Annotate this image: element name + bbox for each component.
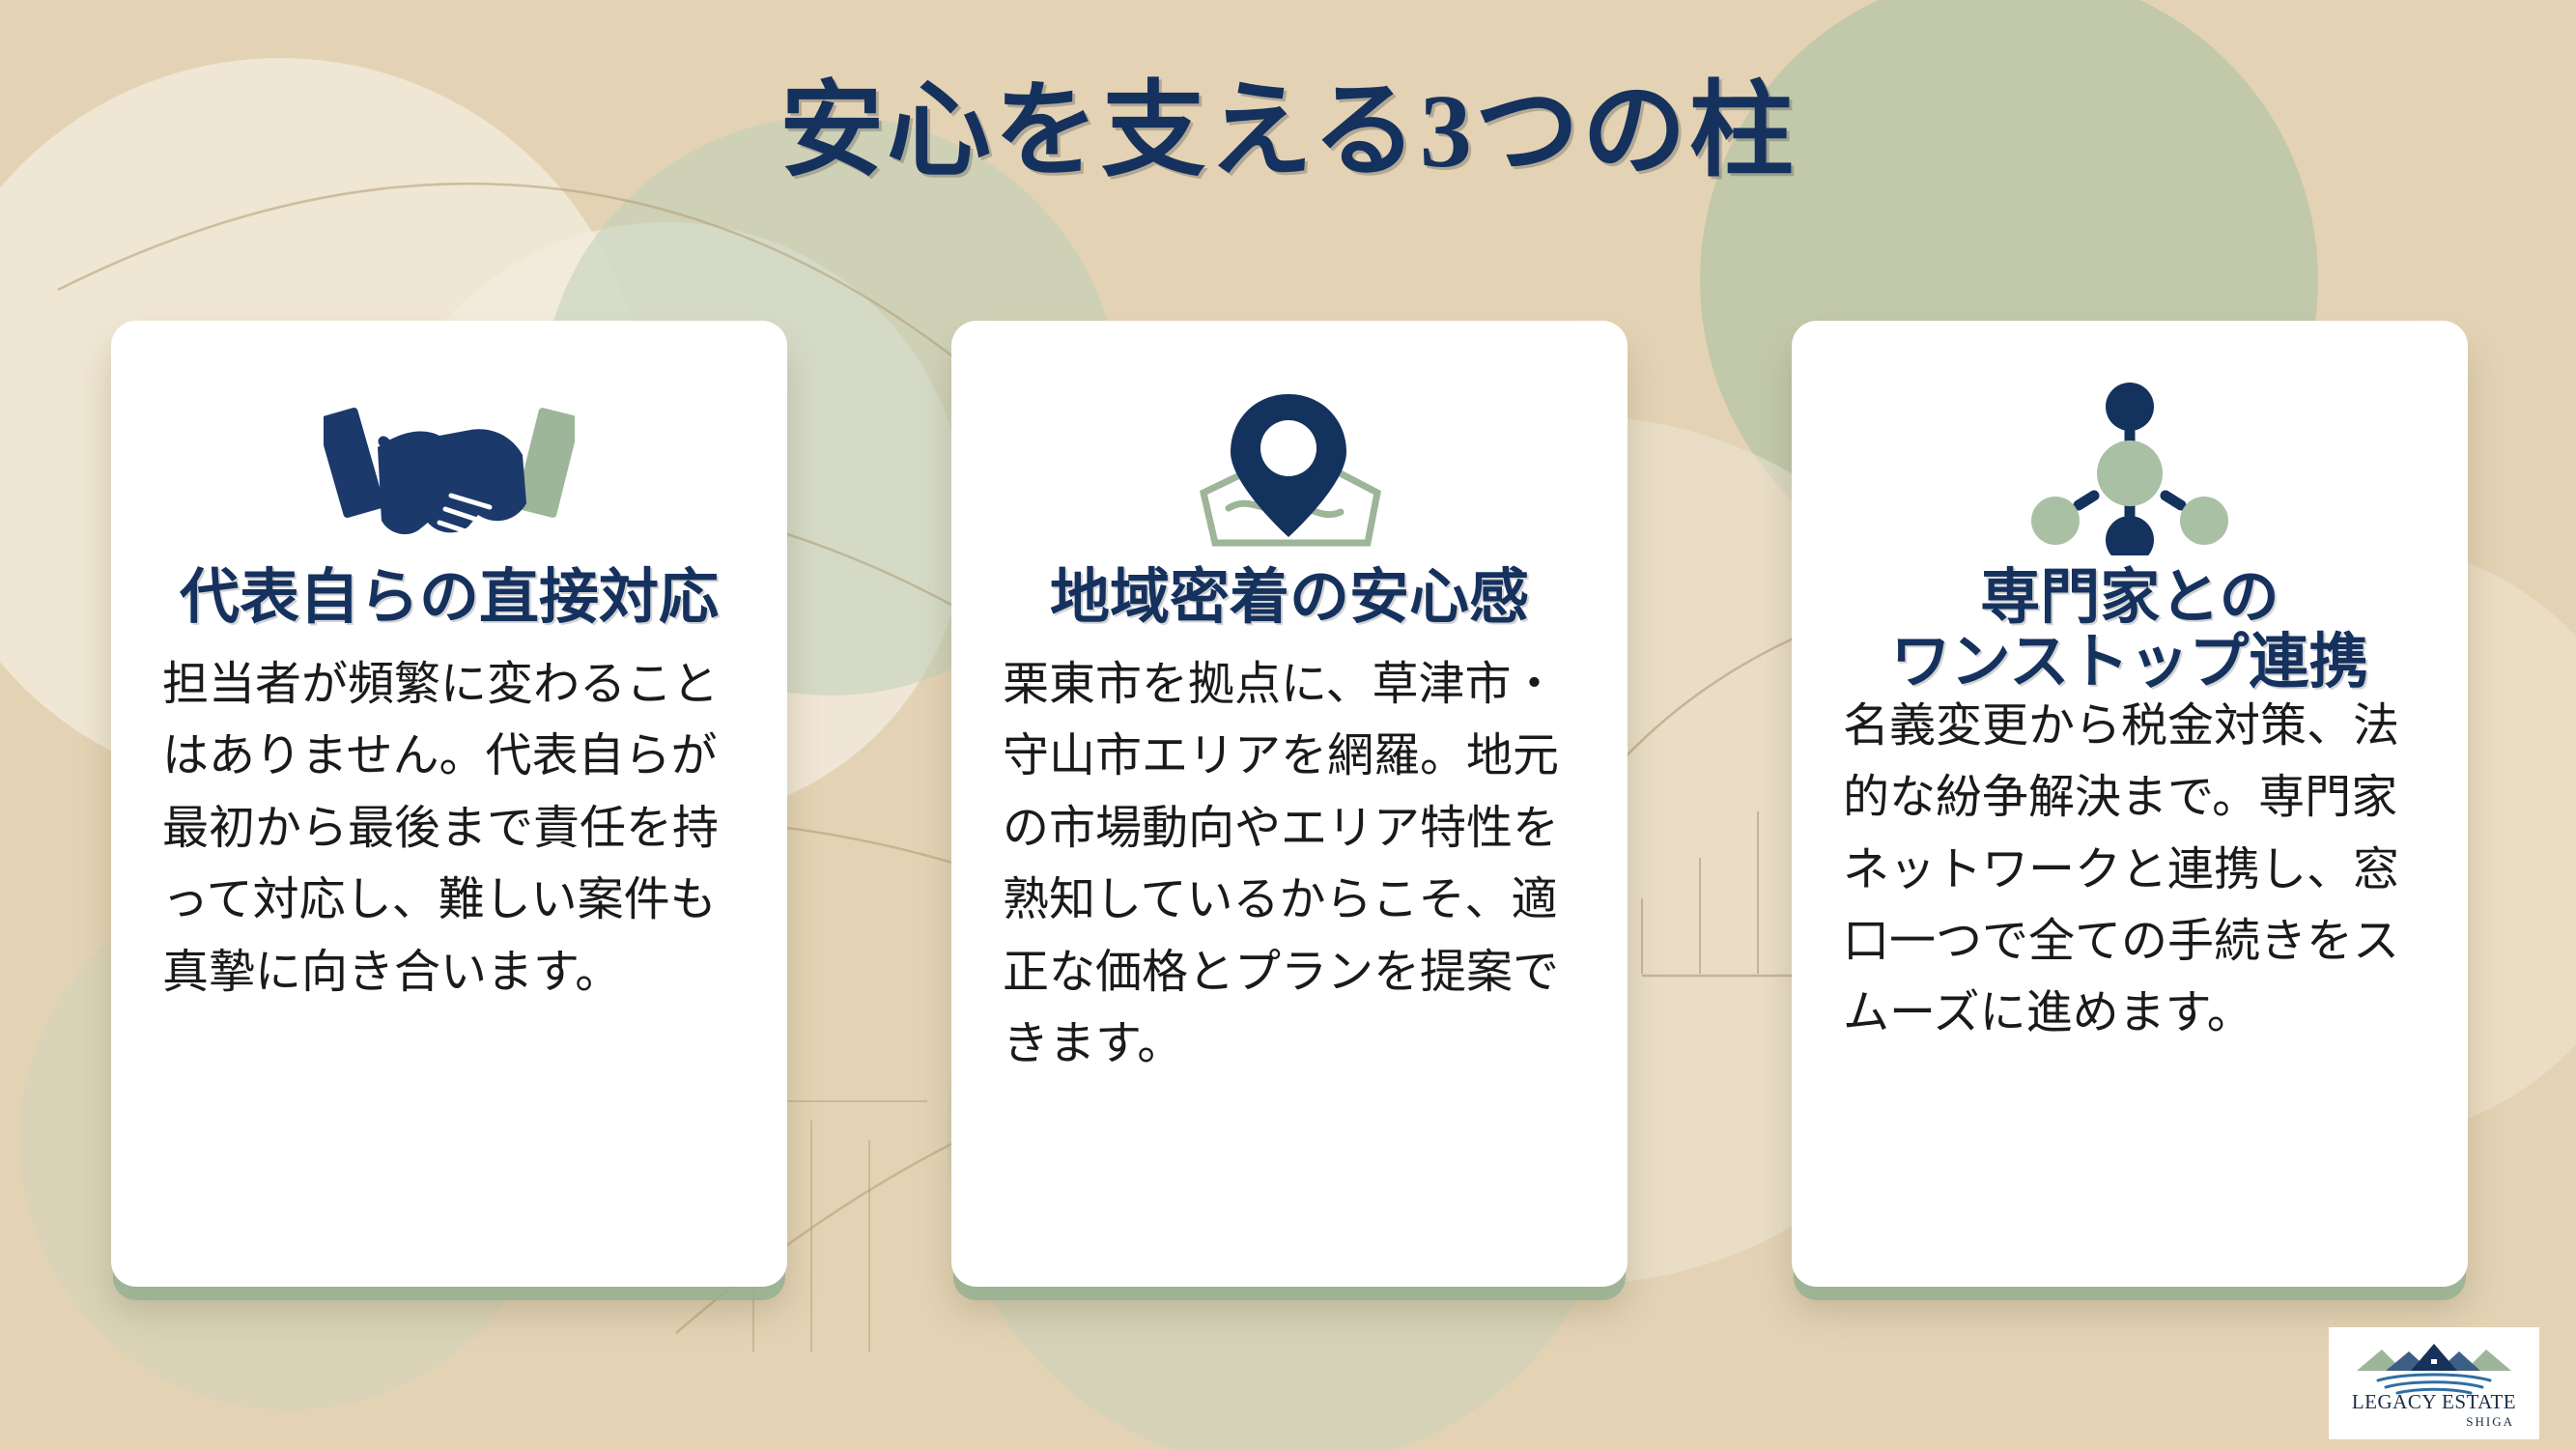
pillar-card-1[interactable]: 代表自らの直接対応 担当者が頻繁に変わることはありません。代表自らが最初から最後…: [111, 321, 787, 1287]
pillar-cards-row: 代表自らの直接対応 担当者が頻繁に変わることはありません。代表自らが最初から最後…: [0, 321, 2576, 1287]
handshake-icon: [324, 377, 575, 560]
pillar-card-2-heading: 地域密着の安心感: [1050, 566, 1529, 631]
pillar-card-2[interactable]: 地域密着の安心感 栗東市を拠点に、草津市・守山市エリアを網羅。地元の市場動向やエ…: [951, 321, 1628, 1287]
pillar-card-1-heading: 代表自らの直接対応: [180, 566, 719, 631]
pillar-card-3-body: 名義変更から税金対策、法的な紛争解決まで。専門家ネットワークと連携し、窓口一つで…: [1826, 690, 2434, 1049]
pillar-card-3-heading: 専門家との ワンストップ連携: [1891, 566, 2369, 696]
mountain-water-logo-icon: [2353, 1338, 2515, 1396]
logo-wordmark: LEGACY ESTATE: [2352, 1392, 2516, 1412]
pillar-card-2-body: 栗東市を拠点に、草津市・守山市エリアを網羅。地元の市場動向やエリア特性を熟知して…: [985, 648, 1594, 1079]
map-pin-icon: [1178, 377, 1401, 560]
logo-sub-text: SHIGA: [2466, 1414, 2514, 1430]
pillar-card-3[interactable]: 専門家との ワンストップ連携 名義変更から税金対策、法的な紛争解決まで。専門家ネ…: [1792, 321, 2468, 1287]
page-title: 安心を支える3つの柱: [0, 46, 2576, 197]
company-logo[interactable]: LEGACY ESTATE SHIGA: [2329, 1327, 2539, 1439]
network-hub-icon: [2019, 377, 2241, 560]
pillar-card-1-body: 担当者が頻繁に変わることはありません。代表自らが最初から最後まで責任を持って対応…: [145, 648, 753, 1008]
